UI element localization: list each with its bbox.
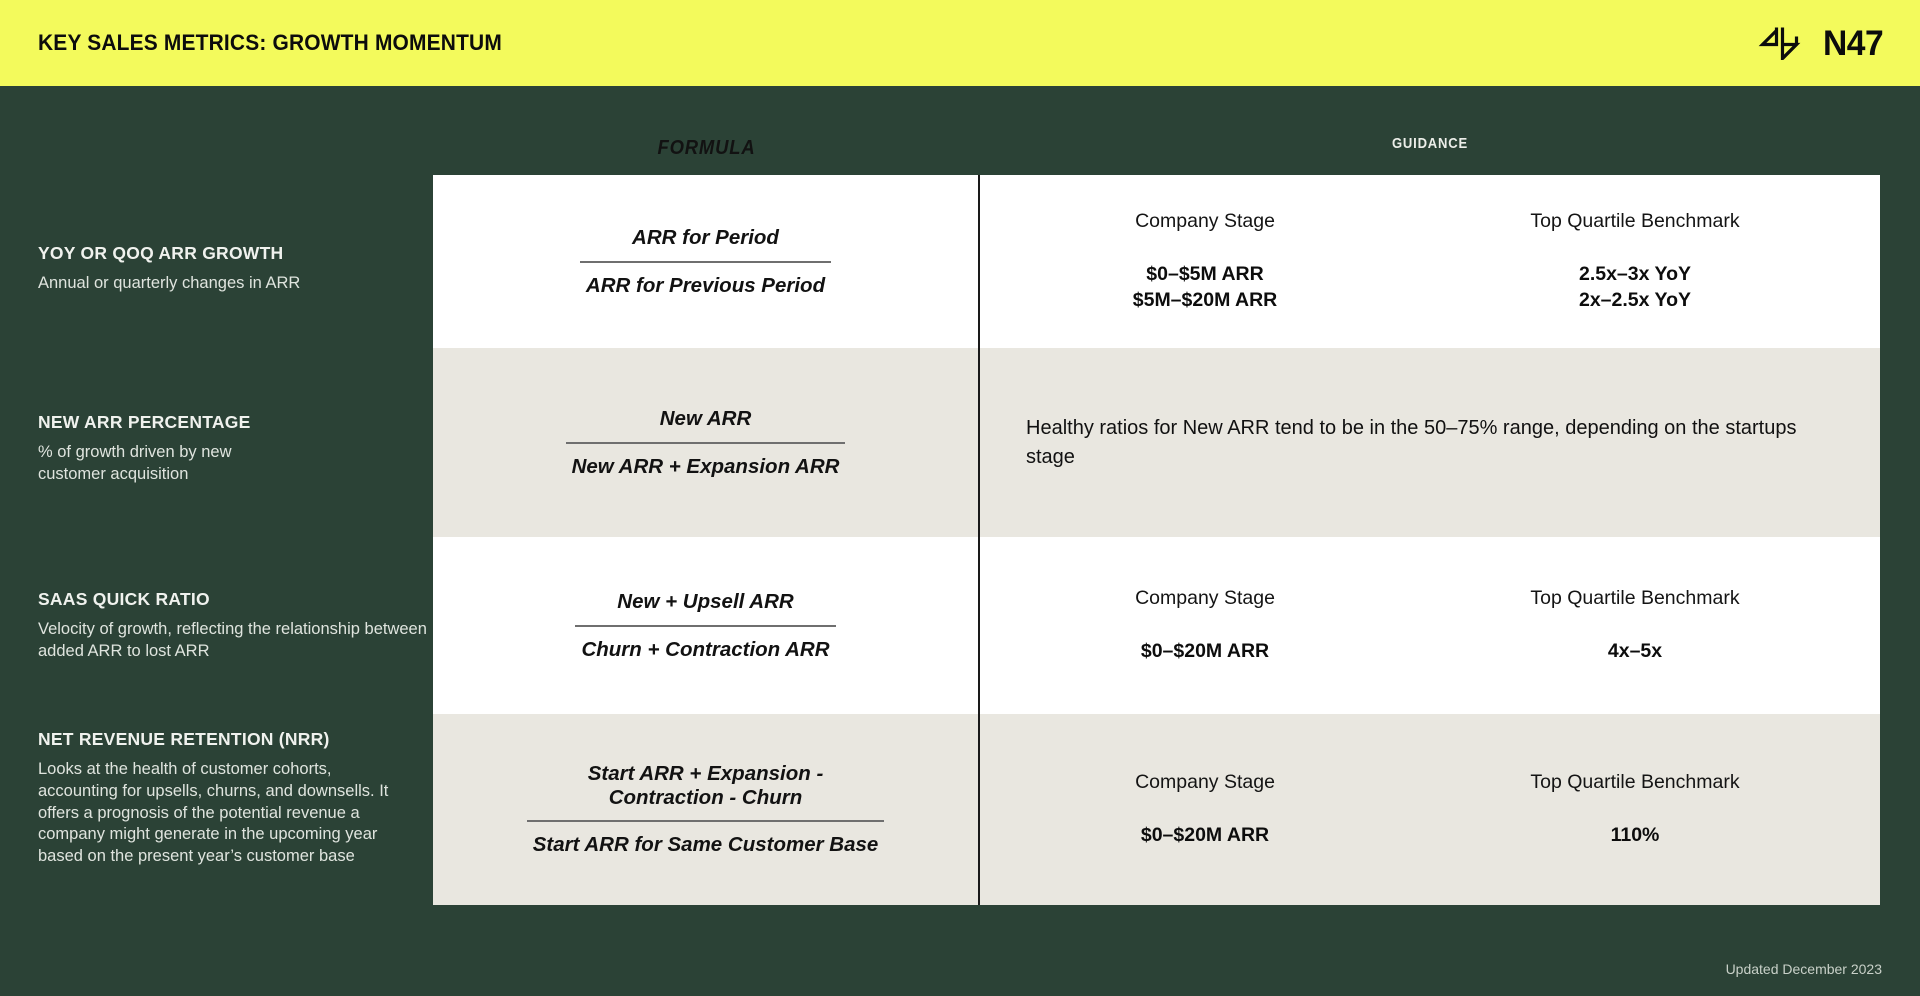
formula-denominator: New ARR + Expansion ARR: [566, 444, 846, 479]
metric-label-net-revenue-retention: NET REVENUE RETENTION (NRR) Looks at the…: [38, 729, 438, 868]
guidance-stage-values: $0–$20M ARR: [990, 639, 1420, 665]
metric-label-yoy-qoq-arr-growth: YOY OR QOQ ARR GROWTH Annual or quarterl…: [38, 243, 438, 295]
formula-fraction: ARR for Period ARR for Previous Period: [580, 226, 831, 298]
formula-numerator: New ARR: [654, 407, 758, 442]
guidance-benchmark-column: Top Quartile Benchmark 110%: [1420, 771, 1850, 849]
footer-updated-text: Updated December 2023: [1726, 961, 1882, 977]
formula-numerator: ARR for Period: [626, 226, 785, 261]
table-row: New + Upsell ARR Churn + Contraction ARR…: [433, 537, 1880, 714]
n47-logo-mark-icon: [1758, 26, 1812, 60]
guidance-stage-header: Company Stage: [990, 587, 1420, 610]
metric-label-title: YOY OR QOQ ARR GROWTH: [38, 243, 438, 264]
formula-cell: New + Upsell ARR Churn + Contraction ARR: [433, 537, 980, 714]
formula-denominator: Start ARR for Same Customer Base: [527, 822, 885, 857]
metrics-table: ARR for Period ARR for Previous Period C…: [433, 175, 1880, 905]
guidance-benchmark-values: 110%: [1420, 823, 1850, 849]
guidance-benchmark-table: Company Stage $0–$5M ARR $5M–$20M ARR To…: [980, 210, 1880, 314]
formula-numerator: Start ARR + Expansion - Contraction - Ch…: [582, 762, 830, 821]
formula-denominator: ARR for Previous Period: [580, 263, 831, 298]
metric-label-description: % of growth driven by new customer acqui…: [38, 442, 298, 486]
guidance-benchmark-header: Top Quartile Benchmark: [1420, 210, 1850, 233]
guidance-cell: Company Stage $0–$5M ARR $5M–$20M ARR To…: [980, 175, 1880, 348]
guidance-stage-header: Company Stage: [990, 210, 1420, 233]
formula-numerator: New + Upsell ARR: [611, 590, 799, 625]
table-row: Start ARR + Expansion - Contraction - Ch…: [433, 714, 1880, 905]
guidance-benchmark-table: Company Stage $0–$20M ARR Top Quartile B…: [980, 587, 1880, 665]
guidance-benchmark-header: Top Quartile Benchmark: [1420, 771, 1850, 794]
guidance-benchmark-table: Company Stage $0–$20M ARR Top Quartile B…: [980, 771, 1880, 849]
guidance-benchmark-header: Top Quartile Benchmark: [1420, 587, 1850, 610]
guidance-benchmark-values: 2.5x–3x YoY 2x–2.5x YoY: [1420, 262, 1850, 314]
column-header-guidance: GUIDANCE: [1025, 136, 1835, 152]
page-title: KEY SALES METRICS: GROWTH MOMENTUM: [38, 30, 502, 56]
metric-label-description: Annual or quarterly changes in ARR: [38, 273, 438, 295]
guidance-stage-header: Company Stage: [990, 771, 1420, 794]
table-row: ARR for Period ARR for Previous Period C…: [433, 175, 1880, 348]
guidance-cell: Company Stage $0–$20M ARR Top Quartile B…: [980, 714, 1880, 905]
guidance-stage-column: Company Stage $0–$20M ARR: [990, 771, 1420, 849]
guidance-stage-column: Company Stage $0–$5M ARR $5M–$20M ARR: [990, 210, 1420, 314]
metric-label-title: NET REVENUE RETENTION (NRR): [38, 729, 438, 750]
metric-label-description: Velocity of growth, reflecting the relat…: [38, 619, 438, 663]
guidance-benchmark-values: 4x–5x: [1420, 639, 1850, 665]
formula-denominator: Churn + Contraction ARR: [575, 627, 835, 662]
guidance-stage-column: Company Stage $0–$20M ARR: [990, 587, 1420, 665]
guidance-paragraph: Healthy ratios for New ARR tend to be in…: [980, 414, 1880, 471]
guidance-benchmark-column: Top Quartile Benchmark 2.5x–3x YoY 2x–2.…: [1420, 210, 1850, 314]
metric-label-title: SAAS QUICK RATIO: [38, 589, 438, 610]
formula-cell: ARR for Period ARR for Previous Period: [433, 175, 980, 348]
guidance-stage-values: $0–$5M ARR $5M–$20M ARR: [990, 262, 1420, 314]
column-header-formula: FORMULA: [460, 136, 952, 160]
metric-label-description: Looks at the health of customer cohorts,…: [38, 759, 390, 868]
metric-label-saas-quick-ratio: SAAS QUICK RATIO Velocity of growth, ref…: [38, 589, 438, 663]
metric-label-title: NEW ARR PERCENTAGE: [38, 412, 438, 433]
brand-logo-text: N47: [1823, 26, 1883, 61]
formula-cell: Start ARR + Expansion - Contraction - Ch…: [433, 714, 980, 905]
brand-logo: N47: [1758, 26, 1886, 61]
formula-cell: New ARR New ARR + Expansion ARR: [433, 348, 980, 537]
formula-fraction: New ARR New ARR + Expansion ARR: [566, 407, 846, 479]
guidance-benchmark-column: Top Quartile Benchmark 4x–5x: [1420, 587, 1850, 665]
guidance-stage-values: $0–$20M ARR: [990, 823, 1420, 849]
table-row: New ARR New ARR + Expansion ARR Healthy …: [433, 348, 1880, 537]
metric-label-new-arr-percentage: NEW ARR PERCENTAGE % of growth driven by…: [38, 412, 438, 486]
formula-fraction: Start ARR + Expansion - Contraction - Ch…: [527, 762, 885, 857]
page-header: KEY SALES METRICS: GROWTH MOMENTUM N47: [0, 0, 1920, 86]
guidance-cell: Company Stage $0–$20M ARR Top Quartile B…: [980, 537, 1880, 714]
slide-root: KEY SALES METRICS: GROWTH MOMENTUM N47 F…: [0, 0, 1920, 996]
formula-fraction: New + Upsell ARR Churn + Contraction ARR: [575, 590, 835, 662]
guidance-cell: Healthy ratios for New ARR tend to be in…: [980, 348, 1880, 537]
